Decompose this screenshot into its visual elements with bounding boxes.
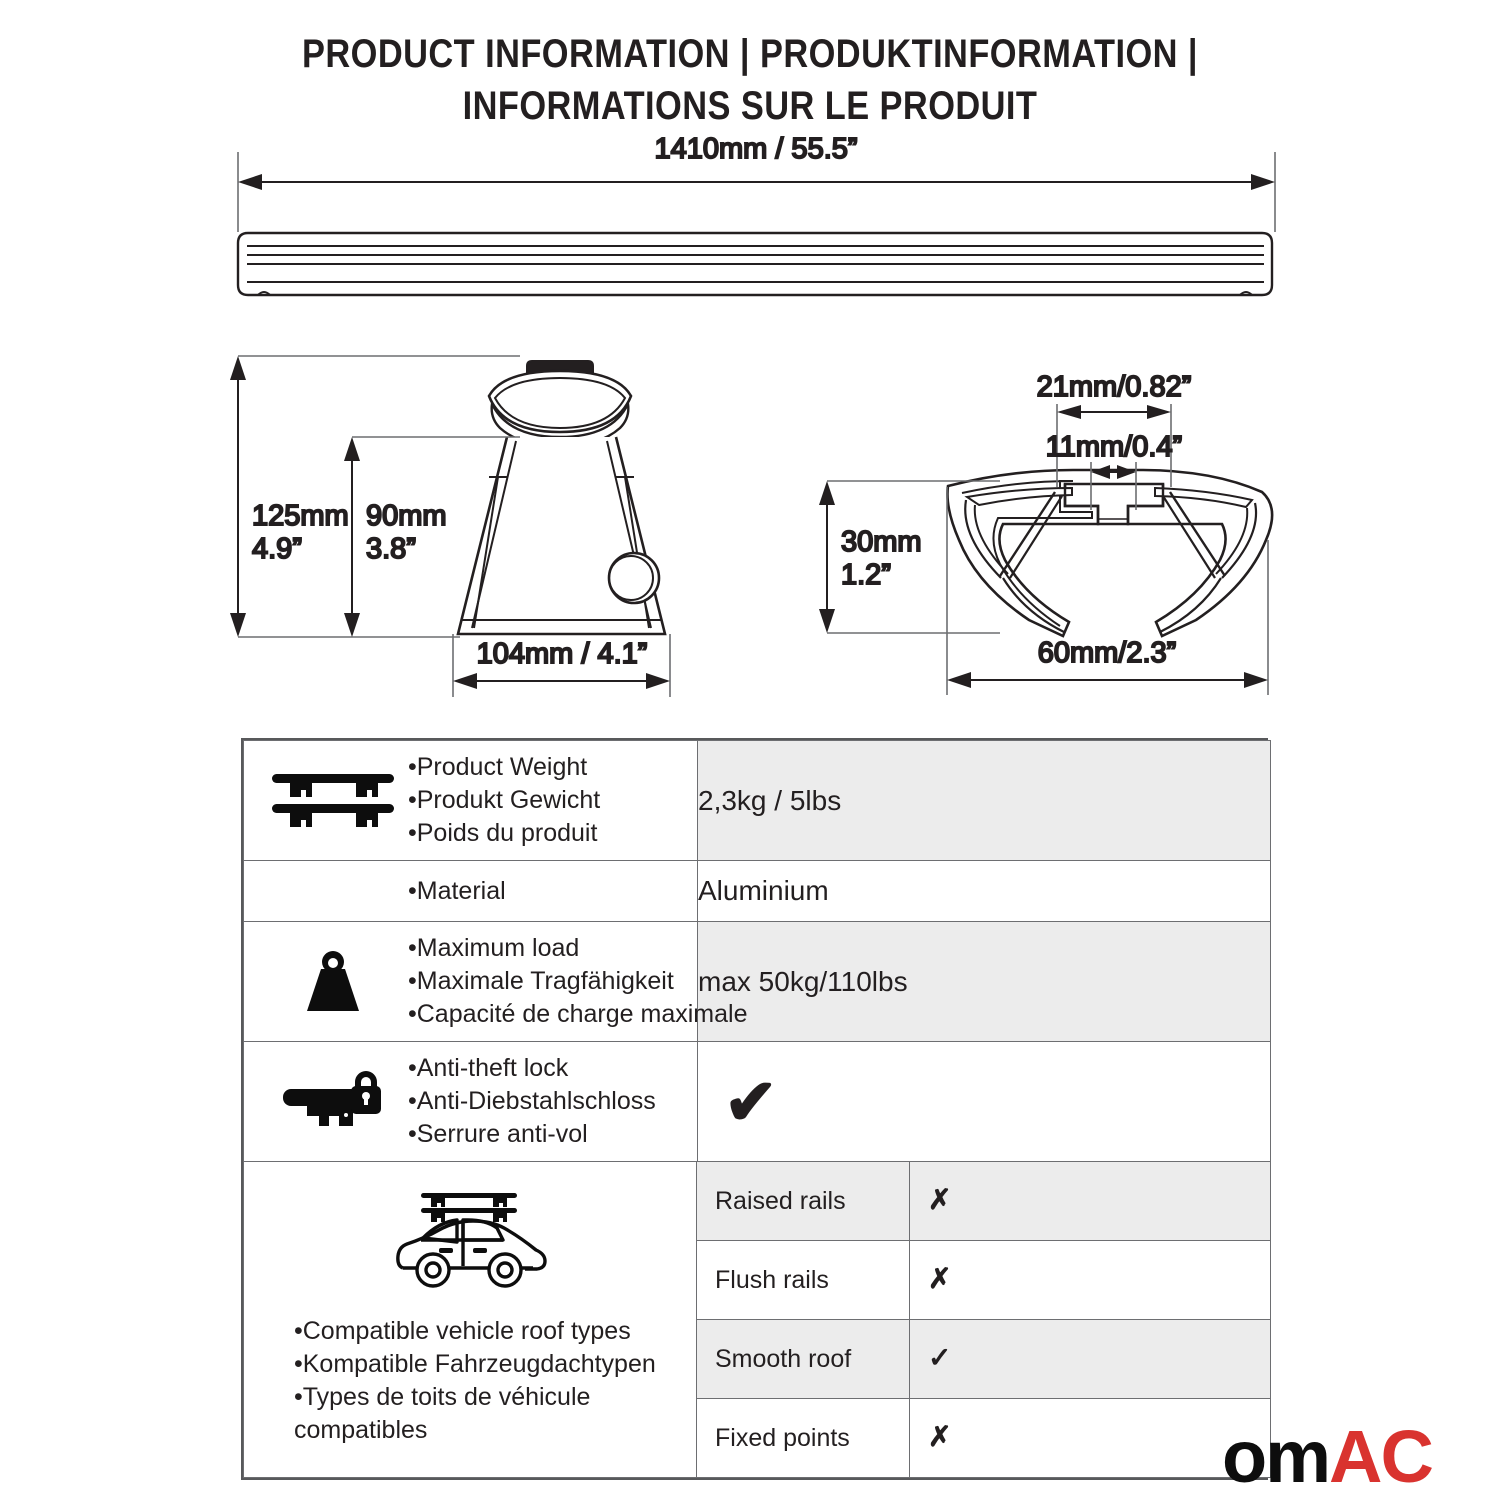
profile-inner-slot-label: 11mm/0.4” xyxy=(1046,431,1182,463)
label-fr: •Types de toits de véhicule xyxy=(294,1381,656,1414)
label-de: •Produkt Gewicht xyxy=(408,784,600,817)
label-en: •Material xyxy=(408,875,506,908)
technical-drawings: 1410mm / 55.5” xyxy=(0,0,1500,730)
car-with-rack-icon xyxy=(387,1188,553,1301)
tower-width-label: 104mm / 4.1” xyxy=(477,638,648,670)
row-material-labels: •Material xyxy=(408,875,506,908)
roof-type-row: Smooth roof ✓ xyxy=(697,1320,1270,1399)
roof-types-label-cell: •Compatible vehicle roof types •Kompatib… xyxy=(244,1162,697,1477)
label-de: •Kompatible Fahrzeugdachtypen xyxy=(294,1348,656,1381)
crossbar-side-view xyxy=(238,233,1272,295)
weight-icon xyxy=(258,949,408,1015)
row-weight-labels: •Product Weight •Produkt Gewicht •Poids … xyxy=(408,751,600,850)
roof-type-mark: ✗ xyxy=(910,1399,1271,1478)
table-row: •Compatible vehicle roof types •Kompatib… xyxy=(244,1162,1271,1478)
roof-type-name: Raised rails xyxy=(697,1162,910,1241)
row-maxload-value: max 50kg/110lbs xyxy=(698,922,1271,1042)
tower-inner-height-in: 3.8” xyxy=(366,533,416,565)
label-en: •Compatible vehicle roof types xyxy=(294,1315,656,1348)
roof-type-mark: ✗ xyxy=(910,1241,1271,1320)
roof-type-name: Smooth roof xyxy=(697,1320,910,1399)
bar-length-label: 1410mm / 55.5” xyxy=(654,133,857,165)
roof-type-name: Fixed points xyxy=(697,1399,910,1478)
mark-glyph: ✗ xyxy=(928,1263,951,1294)
label-de: •Anti-Diebstahlschloss xyxy=(408,1085,656,1118)
label-de: •Maximale Tragfähigkeit xyxy=(408,965,747,998)
profile-height-in: 1.2” xyxy=(841,559,891,591)
tower-front-view xyxy=(458,361,665,634)
table-row: •Maximum load •Maximale Tragfähigkeit •C… xyxy=(244,922,1271,1042)
label-fr: •Serrure anti-vol xyxy=(408,1118,656,1151)
label-fr: •Capacité de charge maximale xyxy=(408,998,747,1031)
label-en: •Anti-theft lock xyxy=(408,1052,656,1085)
roof-types-labels: •Compatible vehicle roof types •Kompatib… xyxy=(252,1315,656,1447)
tower-inner-height-mm: 90mm xyxy=(366,500,447,532)
bar-profile-cross-section xyxy=(947,470,1272,636)
row-weight-value: 2,3kg / 5lbs xyxy=(698,741,1271,861)
row-maxload-labels: •Maximum load •Maximale Tragfähigkeit •C… xyxy=(408,932,747,1031)
label-fr: •Poids du produit xyxy=(408,817,600,850)
roof-type-row: Flush rails ✗ xyxy=(697,1241,1270,1320)
row-material-value: Aluminium xyxy=(698,861,1271,922)
mark-glyph: ✗ xyxy=(928,1421,951,1452)
product-information-page: PRODUCT INFORMATION | PRODUKTINFORMATION… xyxy=(0,0,1500,1500)
roof-type-mark: ✓ xyxy=(910,1320,1271,1399)
table-row: •Product Weight •Produkt Gewicht •Poids … xyxy=(244,741,1271,861)
roof-type-row: Raised rails ✗ xyxy=(697,1162,1270,1241)
mark-glyph: ✓ xyxy=(928,1342,951,1373)
row-material-label-cell: •Material xyxy=(244,861,698,922)
roof-types-matrix: Raised rails ✗ Flush rails ✗ xyxy=(697,1162,1270,1477)
profile-outer-slot-label: 21mm/0.82” xyxy=(1037,371,1192,403)
mark-glyph: ✗ xyxy=(928,1184,951,1215)
table-row: •Anti-theft lock •Anti-Diebstahlschloss … xyxy=(244,1042,1271,1162)
tower-total-height-mm: 125mm xyxy=(252,500,349,532)
roof-types-cell: •Compatible vehicle roof types •Kompatib… xyxy=(244,1162,1271,1478)
label-fr-cont: compatibles xyxy=(294,1414,656,1447)
tower-total-height-in: 4.9” xyxy=(252,533,302,565)
profile-width-label: 60mm/2.3” xyxy=(1038,637,1177,669)
row-maxload-label-cell: •Maximum load •Maximale Tragfähigkeit •C… xyxy=(244,922,698,1042)
lock-icon xyxy=(258,1065,408,1139)
label-en: •Product Weight xyxy=(408,751,600,784)
row-lock-label-cell: •Anti-theft lock •Anti-Diebstahlschloss … xyxy=(244,1042,698,1162)
roof-bars-icon xyxy=(258,772,408,830)
specification-table: •Product Weight •Produkt Gewicht •Poids … xyxy=(241,738,1268,1480)
roof-type-row: Fixed points ✗ xyxy=(697,1399,1270,1478)
logo-red-text: AC xyxy=(1329,1415,1432,1498)
logo-dark-text: om xyxy=(1222,1415,1329,1498)
row-lock-checkmark: ✔ xyxy=(698,1070,1270,1134)
label-en: •Maximum load xyxy=(408,932,747,965)
table-row: •Material Aluminium xyxy=(244,861,1271,922)
roof-type-mark: ✗ xyxy=(910,1162,1271,1241)
omac-logo: omAC xyxy=(1222,1420,1432,1494)
roof-type-name: Flush rails xyxy=(697,1241,910,1320)
row-weight-label-cell: •Product Weight •Produkt Gewicht •Poids … xyxy=(244,741,698,861)
row-lock-labels: •Anti-theft lock •Anti-Diebstahlschloss … xyxy=(408,1052,656,1151)
profile-height-mm: 30mm xyxy=(841,526,922,558)
row-lock-value-cell: ✔ xyxy=(698,1042,1271,1162)
